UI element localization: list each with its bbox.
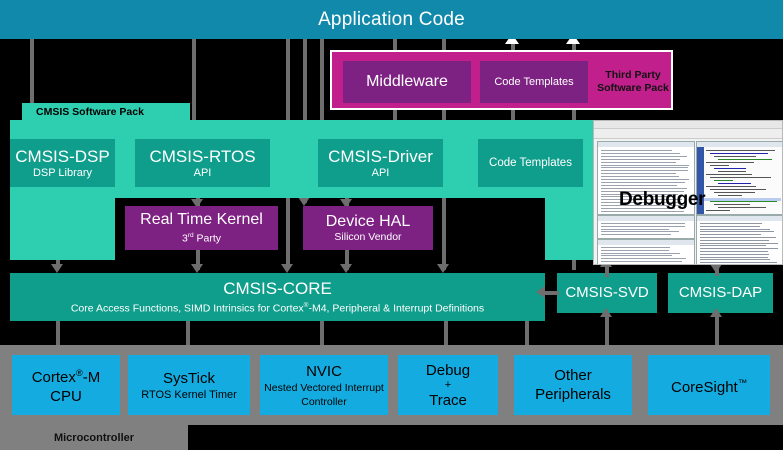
third-party-label-line1: Third Party (605, 69, 660, 82)
cmsis-driver-box: CMSIS-Driver API (318, 139, 443, 187)
cmsis-software-pack-label: CMSIS Software Pack (36, 106, 144, 118)
cmsis-core-subtitle: Core Access Functions, SIMD Intrinsics f… (71, 299, 484, 316)
arrowhead-core-b (437, 264, 449, 273)
other-peripherals-title: Other (554, 366, 592, 385)
arrowhead-svd-from-mcu (600, 308, 612, 317)
third-party-label-line2: Software Pack (597, 82, 669, 95)
real-time-kernel-box: Real Time Kernel 3rd Party (125, 206, 278, 250)
real-time-kernel-subtitle: 3rd Party (182, 229, 221, 246)
nvic-title: NVIC (306, 362, 342, 381)
application-code-label: Application Code (318, 9, 465, 31)
cortex-m-cpu-box: Cortex®-M CPU (12, 355, 120, 415)
debugger-source-header (697, 142, 782, 147)
debugger-screenshot: Debugger (593, 120, 783, 265)
arrowhead-core-svd (536, 286, 545, 298)
arrowhead-core-dsp (51, 264, 63, 273)
debugger-pane-header (598, 142, 694, 147)
cmsis-core-title: CMSIS-CORE (223, 278, 332, 299)
microcontroller-label: Microcontroller (54, 432, 134, 444)
cmsis-dsp-title: CMSIS-DSP (15, 147, 109, 167)
cmsis-architecture-diagram: Application Code Middleware Code Templat… (0, 0, 783, 450)
systick-box: SysTick RTOS Kernel Timer (128, 355, 250, 415)
cmsis-dap-title: CMSIS-DAP (679, 283, 762, 303)
microcontroller-label-bar: Microcontroller (0, 425, 188, 450)
debugger-stack-pane (597, 239, 695, 265)
coresight-title: CoreSight™ (671, 374, 747, 397)
arrowhead-dap-down (710, 264, 722, 273)
debugger-memory-header (598, 216, 694, 221)
debug-trace-subtitle: +Trace (429, 380, 467, 410)
middleware-box: Middleware (343, 61, 471, 103)
third-party-code-templates-box: Code Templates (480, 61, 588, 103)
debug-trace-title: Debug (426, 361, 470, 380)
cmsis-svd-box: CMSIS-SVD (557, 273, 657, 313)
arrowhead-core-hal (340, 264, 352, 273)
nvic-subtitle: Nested Vectored Interrupt Controller (260, 381, 388, 409)
cmsis-software-pack-tab: CMSIS Software Pack (22, 103, 190, 121)
arrowhead-core-a (281, 264, 293, 273)
debugger-console-pane (696, 215, 783, 265)
coresight-box: CoreSight™ (648, 355, 770, 415)
cmsis-code-templates-title: Code Templates (489, 153, 572, 173)
debugger-console-header (697, 216, 782, 221)
other-peripherals-subtitle: Peripherals (535, 385, 611, 404)
systick-subtitle: RTOS Kernel Timer (141, 388, 237, 402)
cmsis-driver-subtitle: API (372, 167, 390, 180)
debugger-label: Debugger (619, 189, 705, 211)
arrowhead-dap-from-mcu (710, 308, 722, 317)
third-party-code-templates-label: Code Templates (494, 76, 573, 88)
cmsis-dsp-box: CMSIS-DSP DSP Library (10, 139, 115, 187)
cmsis-dsp-subtitle: DSP Library (33, 167, 92, 180)
systick-title: SysTick (163, 369, 215, 388)
device-hal-subtitle: Silicon Vendor (334, 231, 401, 244)
debugger-toolbar (594, 129, 782, 139)
application-code-bar: Application Code (0, 0, 783, 39)
third-party-software-pack: Middleware Code Templates Third Party So… (330, 50, 673, 110)
nvic-box: NVIC Nested Vectored Interrupt Controlle… (260, 355, 388, 415)
arrowhead-core-kernel (191, 264, 203, 273)
debug-trace-box: Debug +Trace (398, 355, 498, 415)
cmsis-core-box: CMSIS-CORE Core Access Functions, SIMD I… (10, 273, 545, 321)
connector-svd-to-core (545, 291, 559, 295)
cortex-m-cpu-subtitle: CPU (50, 387, 82, 406)
cmsis-rtos-title: CMSIS-RTOS (149, 147, 255, 167)
device-hal-box: Device HAL Silicon Vendor (303, 206, 433, 250)
cmsis-pack-region-left (10, 198, 115, 260)
device-hal-title: Device HAL (326, 212, 410, 231)
cmsis-rtos-subtitle: API (194, 167, 212, 180)
other-peripherals-box: Other Peripherals (514, 355, 632, 415)
debugger-source-pane (696, 141, 783, 215)
debugger-memory-pane (597, 215, 695, 239)
arrowhead-hal-a (298, 197, 310, 206)
cmsis-svd-title: CMSIS-SVD (565, 283, 648, 303)
debugger-stack-header (598, 240, 694, 245)
cmsis-driver-title: CMSIS-Driver (328, 147, 433, 167)
cortex-m-cpu-title: Cortex®-M (32, 364, 101, 387)
cmsis-code-templates-box: Code Templates (478, 139, 583, 187)
middleware-label: Middleware (366, 73, 448, 91)
cmsis-dap-box: CMSIS-DAP (668, 273, 773, 313)
third-party-pack-label: Third Party Software Pack (594, 58, 672, 106)
cmsis-rtos-box: CMSIS-RTOS API (135, 139, 270, 187)
debugger-menubar (594, 121, 782, 129)
real-time-kernel-title: Real Time Kernel (140, 210, 263, 229)
